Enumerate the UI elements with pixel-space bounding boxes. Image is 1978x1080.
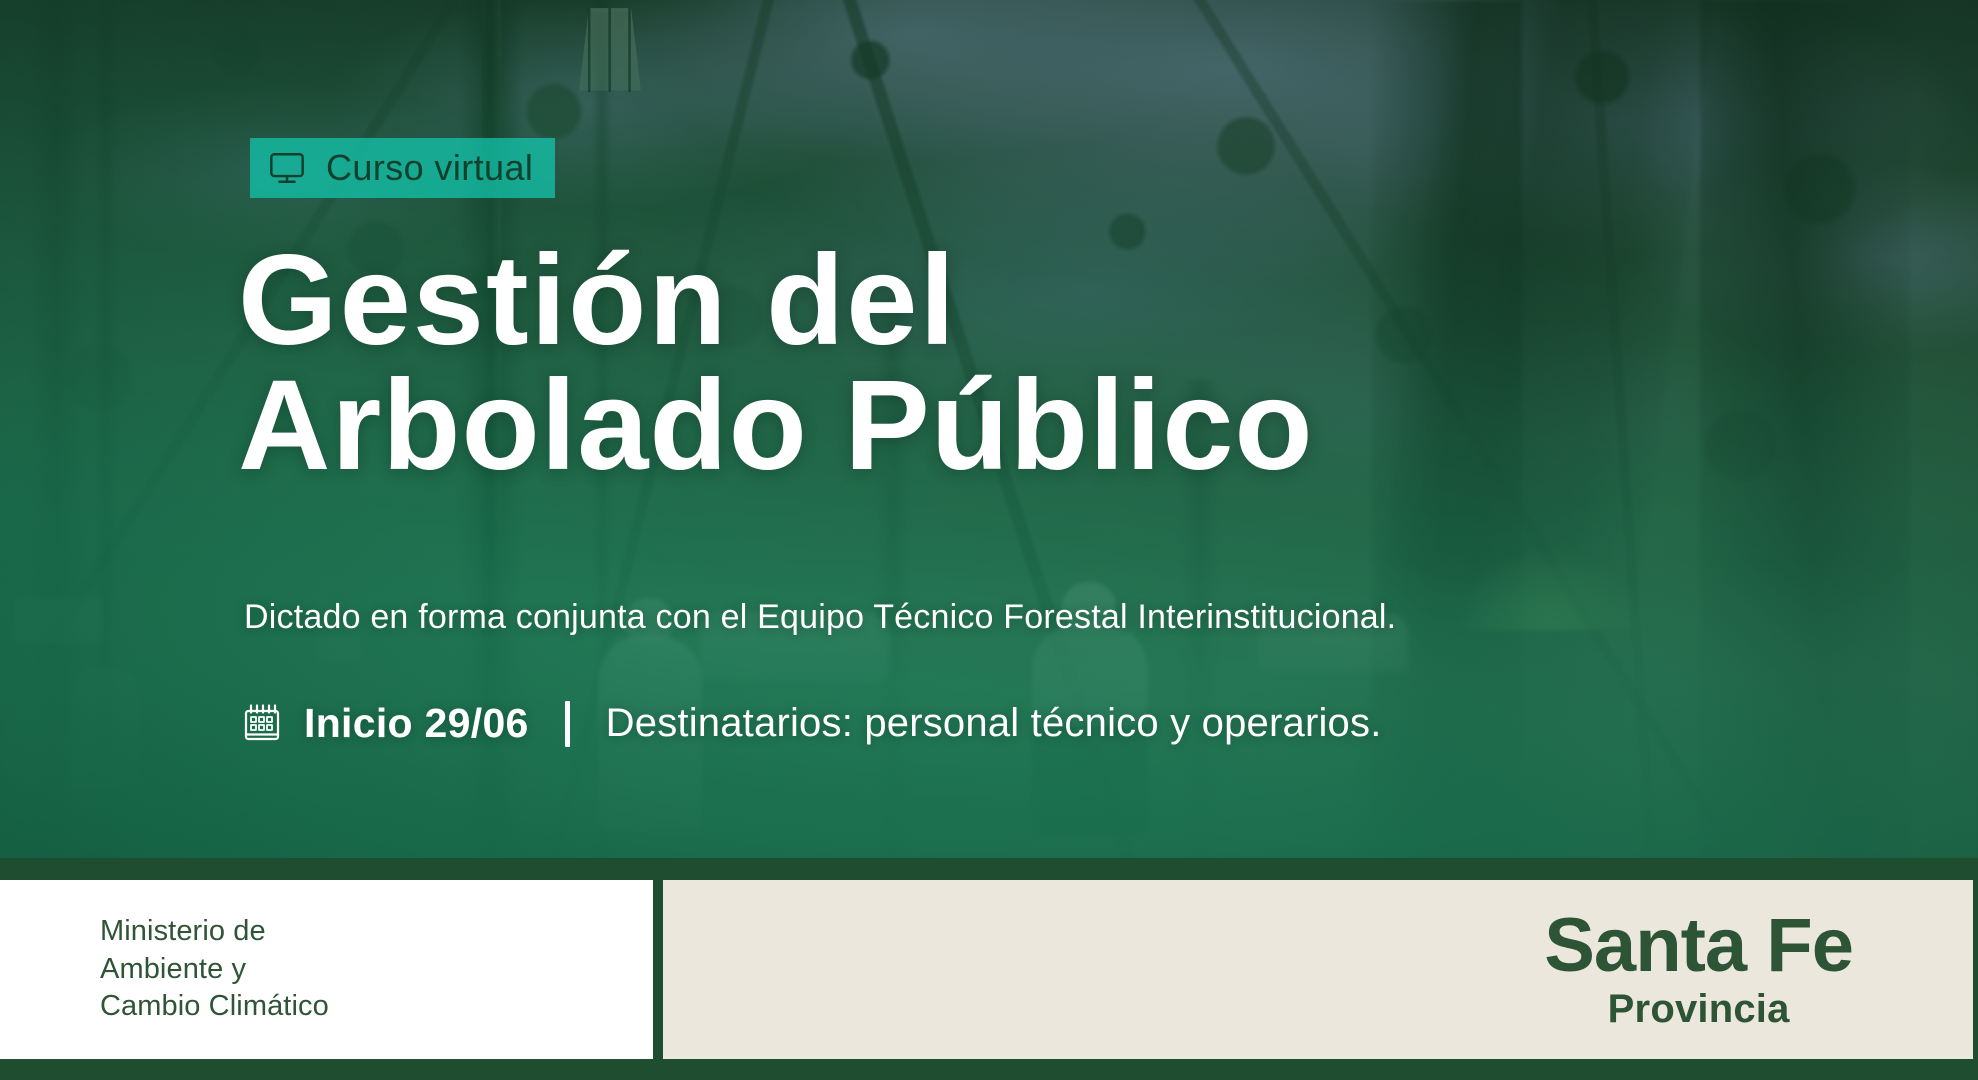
- headline-line-2: Arbolado Público: [238, 363, 1314, 488]
- brand-name: Santa Fe: [1544, 910, 1853, 983]
- santa-fe-logo: Santa Fe Provincia: [1544, 910, 1853, 1029]
- monitor-icon: [268, 149, 306, 187]
- ministry-panel: Ministerio de Ambiente y Cambio Climátic…: [0, 880, 653, 1059]
- course-meta: Inicio 29/06 Destinatarios: personal téc…: [242, 700, 1382, 747]
- badge-label: Curso virtual: [326, 150, 533, 186]
- ministry-line-2: Ambiente y: [100, 951, 329, 989]
- course-promo-banner: Curso virtual Gestión del Arbolado Públi…: [0, 0, 1978, 1080]
- course-type-badge: Curso virtual: [250, 138, 555, 198]
- brand-subtitle: Provincia: [1544, 989, 1853, 1029]
- ministry-line-3: Cambio Climático: [100, 988, 329, 1026]
- province-panel: Santa Fe Provincia: [663, 880, 1973, 1059]
- ministry-logo-text: Ministerio de Ambiente y Cambio Climátic…: [100, 913, 329, 1026]
- calendar-icon: [242, 703, 282, 745]
- page-title: Gestión del Arbolado Público: [238, 238, 1314, 489]
- start-date: Inicio 29/06: [304, 700, 529, 747]
- subtitle: Dictado en forma conjunta con el Equipo …: [244, 598, 1396, 637]
- footer-bar: Ministerio de Ambiente y Cambio Climátic…: [0, 858, 1978, 1080]
- meta-separator: [565, 701, 570, 747]
- audience-text: Destinatarios: personal técnico y operar…: [606, 701, 1382, 746]
- ministry-line-1: Ministerio de: [100, 913, 329, 951]
- headline-line-1: Gestión del: [238, 238, 1314, 363]
